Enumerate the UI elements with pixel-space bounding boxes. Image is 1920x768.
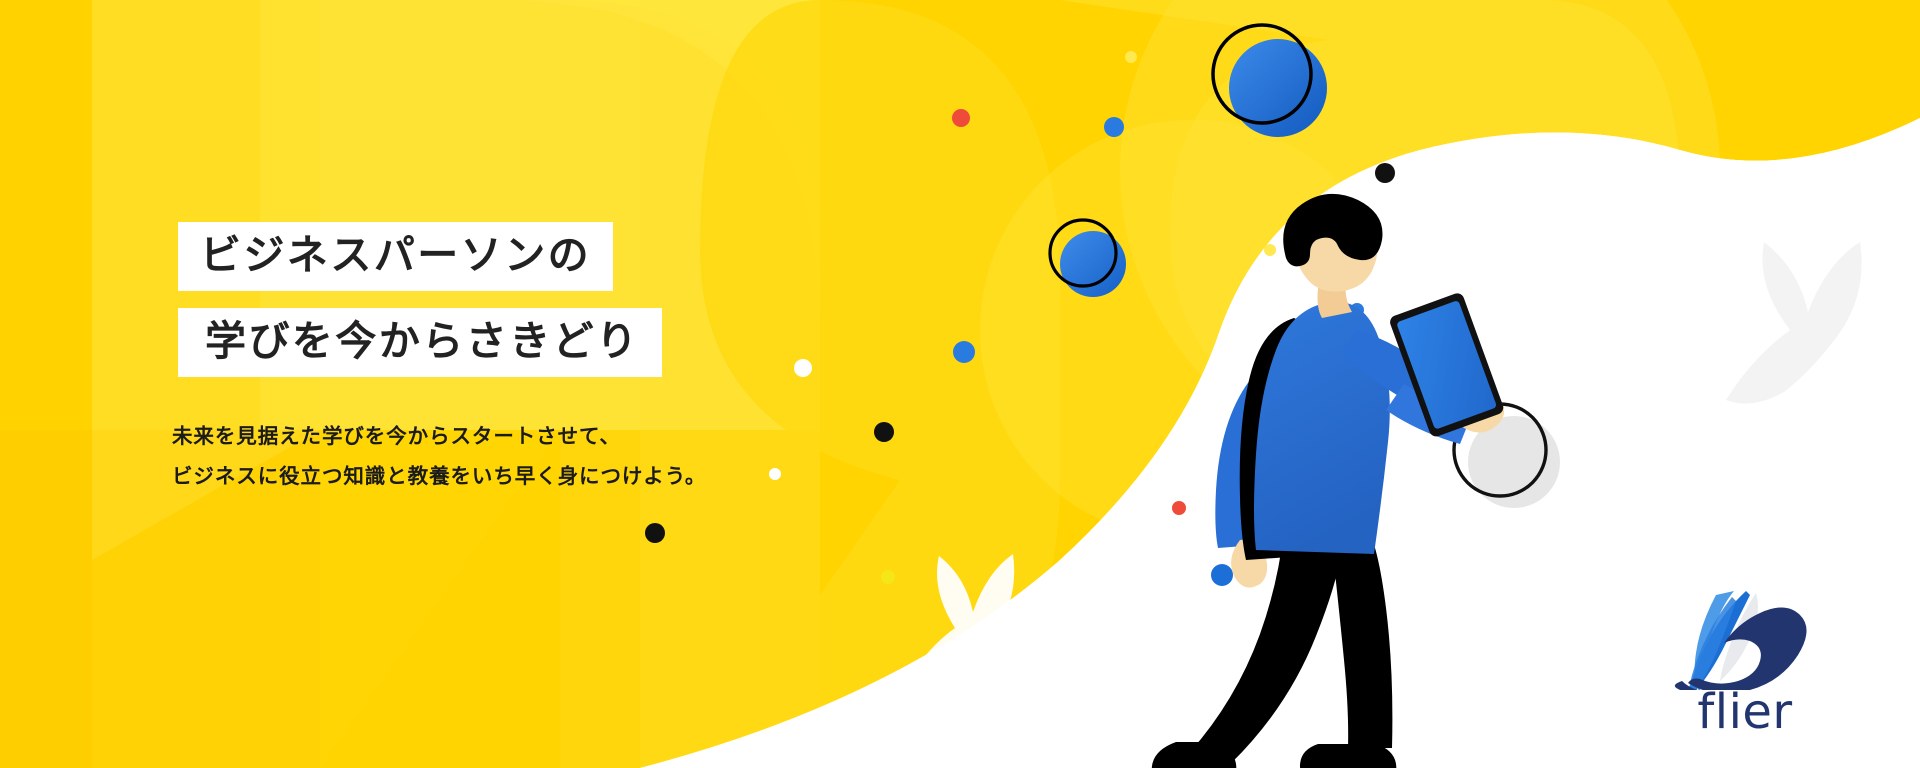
flier-logo[interactable]: flier: [1660, 585, 1830, 736]
hero-banner: ビジネスパーソンの 学びを今からさきどり 未来を見据えた学びを今からスタートさせ…: [0, 0, 1920, 768]
hero-subcopy: 未来を見据えた学びを今からスタートさせて、 ビジネスに役立つ知識と教養をいち早く…: [172, 417, 706, 497]
person-pants-front: [1330, 526, 1392, 748]
person-shoe-front: [1300, 744, 1396, 768]
hero-copy: ビジネスパーソンの 学びを今からさきどり 未来を見据えた学びを今からスタートさせ…: [178, 222, 706, 497]
flier-wordmark: flier: [1660, 688, 1830, 736]
headline-line-2-text: 学びを今からさきどり: [178, 308, 662, 377]
flier-logo-mark: [1660, 585, 1830, 690]
headline-line-1: ビジネスパーソンの: [178, 222, 706, 291]
headline-line-2: 学びを今からさきどり: [178, 308, 706, 377]
subcopy-line-1: 未来を見据えた学びを今からスタートさせて、: [172, 417, 706, 457]
headline-line-1-text: ビジネスパーソンの: [178, 222, 613, 291]
subcopy-line-2: ビジネスに役立つ知識と教養をいち早く身につけよう。: [172, 457, 706, 497]
